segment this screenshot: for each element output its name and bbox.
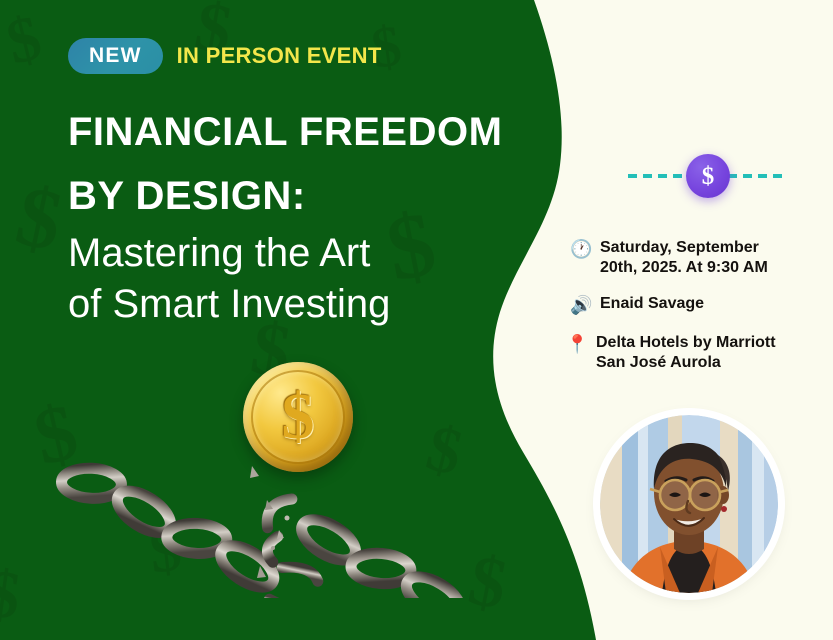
- location-pin-icon: 📍: [566, 333, 587, 356]
- datetime-line-1: Saturday, September: [600, 239, 759, 256]
- coin-dollar-symbol: $: [243, 362, 353, 472]
- datetime-line-2: 20th, 2025. At 9:30 AM: [600, 259, 768, 276]
- clock-icon: 🕐: [570, 238, 591, 261]
- detail-row-speaker: 🔊 Enaid Savage: [570, 294, 820, 317]
- subtitle-line-1: Mastering the Art: [68, 228, 498, 279]
- subtitle: Mastering the Art of Smart Investing: [68, 228, 498, 330]
- headline-line-2: BY DESIGN:: [68, 176, 548, 216]
- detail-row-venue: 📍 Delta Hotels by Marriott San José Auro…: [566, 333, 820, 373]
- new-badge: NEW: [68, 38, 163, 74]
- chain-link-broken: [281, 563, 320, 581]
- subtitle-line-2: of Smart Investing: [68, 279, 498, 330]
- detail-row-datetime: 🕐 Saturday, September 20th, 2025. At 9:3…: [570, 238, 820, 278]
- headline-line-1: FINANCIAL FREEDOM: [68, 112, 548, 152]
- dashed-line-left: [628, 174, 688, 178]
- dollar-divider: $: [628, 152, 788, 200]
- dollar-symbol: $: [702, 164, 715, 189]
- chain-fragment: [271, 546, 275, 550]
- loudspeaker-icon: 🔊: [570, 294, 591, 317]
- event-details: 🕐 Saturday, September 20th, 2025. At 9:3…: [570, 238, 820, 389]
- chain-link-broken: [265, 494, 292, 532]
- venue-line-2: San José Aurola: [596, 354, 721, 371]
- dashed-line-right: [728, 174, 788, 178]
- event-type-label: IN PERSON EVENT: [177, 45, 382, 67]
- chain-link: [400, 569, 467, 598]
- detail-datetime: Saturday, September 20th, 2025. At 9:30 …: [600, 238, 768, 278]
- chain-fragment: [285, 516, 290, 521]
- page-title: FINANCIAL FREEDOM BY DESIGN:: [68, 112, 548, 240]
- badge-row: NEW IN PERSON EVENT: [68, 38, 382, 74]
- detail-speaker-name: Enaid Savage: [600, 294, 704, 314]
- chain-link-broken: [269, 597, 309, 598]
- event-poster: $ $ $ $ $ $ $ $ $ $ $ NEW IN PERSON EVEN…: [0, 0, 833, 640]
- gold-dollar-coin: $: [243, 362, 353, 472]
- dollar-badge-icon: $: [686, 154, 730, 198]
- coin-body: $: [243, 362, 353, 472]
- avatar: [600, 415, 778, 593]
- venue-line-1: Delta Hotels by Marriott: [596, 334, 776, 351]
- detail-venue: Delta Hotels by Marriott San José Aurola: [596, 333, 776, 373]
